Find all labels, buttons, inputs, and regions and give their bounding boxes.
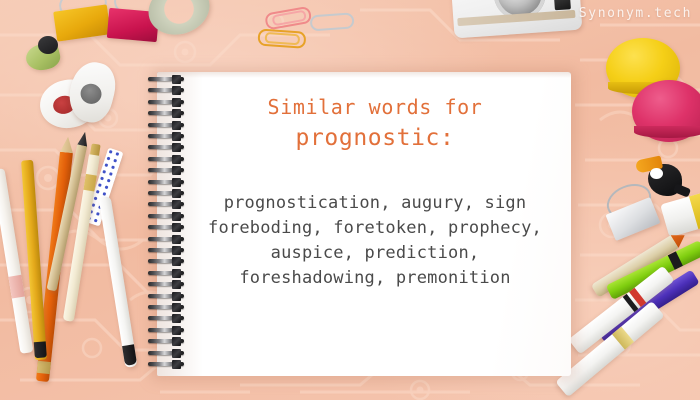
paper-clip-outline	[310, 12, 355, 31]
gray-eraser-dot	[78, 82, 103, 106]
page-title-prefix: Similar words for	[190, 92, 560, 122]
yellow-paper-clip	[258, 28, 303, 45]
screenshot-scene: Similar words for prognostic: prognostic…	[0, 0, 700, 400]
spiral-coil	[148, 144, 184, 151]
spiral-coil	[148, 133, 184, 140]
notepad-spiral-binding	[148, 76, 188, 374]
spiral-coil	[148, 110, 184, 117]
spiral-coil	[148, 304, 184, 311]
spiral-coil	[148, 315, 184, 322]
synonym-line: foreshadowing, premonition	[190, 266, 560, 291]
paper-clip-inner	[265, 32, 301, 45]
camera-flash	[554, 0, 571, 10]
spiral-coil	[148, 87, 184, 94]
spiral-coil	[148, 293, 184, 300]
pencil-ferrule	[37, 361, 51, 374]
glue-stick-cap	[689, 193, 700, 230]
spiral-coil	[148, 350, 184, 357]
synonym-line: foreboding, foretoken, prophecy,	[190, 216, 560, 241]
synonym-line: auspice, prediction,	[190, 241, 560, 266]
pen-tip	[90, 143, 101, 155]
spiral-coil	[148, 190, 184, 197]
spiral-coil	[148, 156, 184, 163]
green-bird-figurine	[22, 36, 64, 72]
spiral-coil	[148, 270, 184, 277]
spiral-coil	[148, 236, 184, 243]
spiral-coil	[148, 327, 184, 334]
page-headword: prognostic:	[190, 122, 560, 155]
spiral-coil	[148, 361, 184, 368]
spiral-coil	[148, 122, 184, 129]
site-logo[interactable]: Synonym.tech	[579, 6, 692, 21]
macaron-filling	[634, 126, 700, 138]
spiral-coil	[148, 179, 184, 186]
spiral-coil	[148, 167, 184, 174]
spiral-coil	[148, 338, 184, 345]
pencil-eraser-cap	[34, 341, 47, 358]
synonym-line: prognostication, augury, sign	[190, 191, 560, 216]
spiral-coil	[148, 281, 184, 288]
spiral-coil	[148, 258, 184, 265]
pink-macaron	[632, 80, 700, 142]
spiral-coil	[148, 224, 184, 231]
notepad-content: Similar words for prognostic: prognostic…	[190, 92, 560, 291]
spiral-coil	[148, 247, 184, 254]
paper-top-edge	[157, 72, 571, 78]
spiral-coil	[148, 213, 184, 220]
spiral-coil	[148, 201, 184, 208]
spiral-coil	[148, 99, 184, 106]
spiral-coil	[148, 76, 184, 83]
toucan-chest	[650, 168, 663, 179]
bird-head	[38, 36, 58, 54]
synonym-list: prognostication, augury, signforeboding,…	[190, 191, 560, 291]
silver-paper-clip	[310, 13, 351, 29]
